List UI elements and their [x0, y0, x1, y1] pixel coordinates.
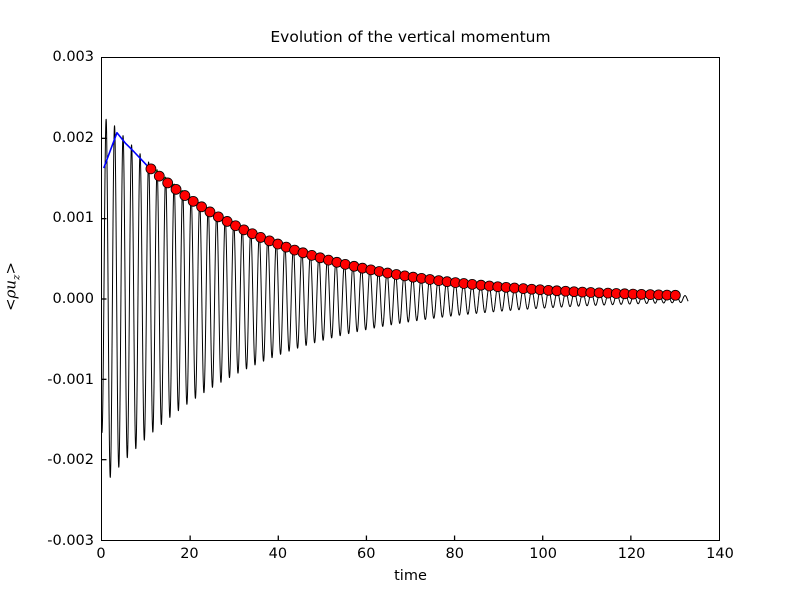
- y-tick-label: -0.001: [47, 372, 94, 388]
- x-tick-label: 20: [180, 546, 198, 562]
- peak-marker: [163, 178, 173, 188]
- y-tick-label: 0.002: [52, 130, 94, 146]
- plot-axes-area: [101, 57, 720, 541]
- peak-marker: [467, 279, 477, 289]
- y-tick-label: -0.003: [47, 533, 94, 549]
- signal-line: [102, 119, 688, 477]
- peak-marker: [146, 164, 156, 174]
- x-tick-label: 120: [618, 546, 646, 562]
- envelope-line: [104, 133, 151, 170]
- y-tick-label: -0.002: [47, 452, 94, 468]
- x-tick-label: 60: [357, 546, 375, 562]
- peak-marker: [171, 184, 181, 194]
- x-tick-label: 0: [96, 546, 105, 562]
- x-tick-label: 80: [445, 546, 463, 562]
- page-title: Evolution of the vertical momentum: [101, 28, 720, 46]
- peak-marker: [298, 248, 308, 258]
- peak-marker: [340, 259, 350, 269]
- y-tick-label: 0.003: [52, 49, 94, 65]
- peak-marker: [180, 191, 190, 201]
- x-tick-label: 140: [706, 546, 734, 562]
- peak-marker: [670, 290, 680, 300]
- matplotlib-figure: Evolution of the vertical momentum -0.00…: [0, 0, 800, 600]
- y-tick-label: 0.001: [52, 210, 94, 226]
- y-axis-label: <ρuz>: [2, 237, 23, 337]
- peak-marker: [154, 171, 164, 181]
- y-tick-label: 0.000: [52, 291, 94, 307]
- chart-canvas: [102, 58, 719, 540]
- peak-marker: [425, 275, 435, 285]
- x-tick-label: 40: [269, 546, 287, 562]
- x-tick-label: 100: [529, 546, 557, 562]
- x-axis-label: time: [101, 568, 720, 584]
- peak-marker: [213, 212, 223, 222]
- peak-marker: [383, 268, 393, 278]
